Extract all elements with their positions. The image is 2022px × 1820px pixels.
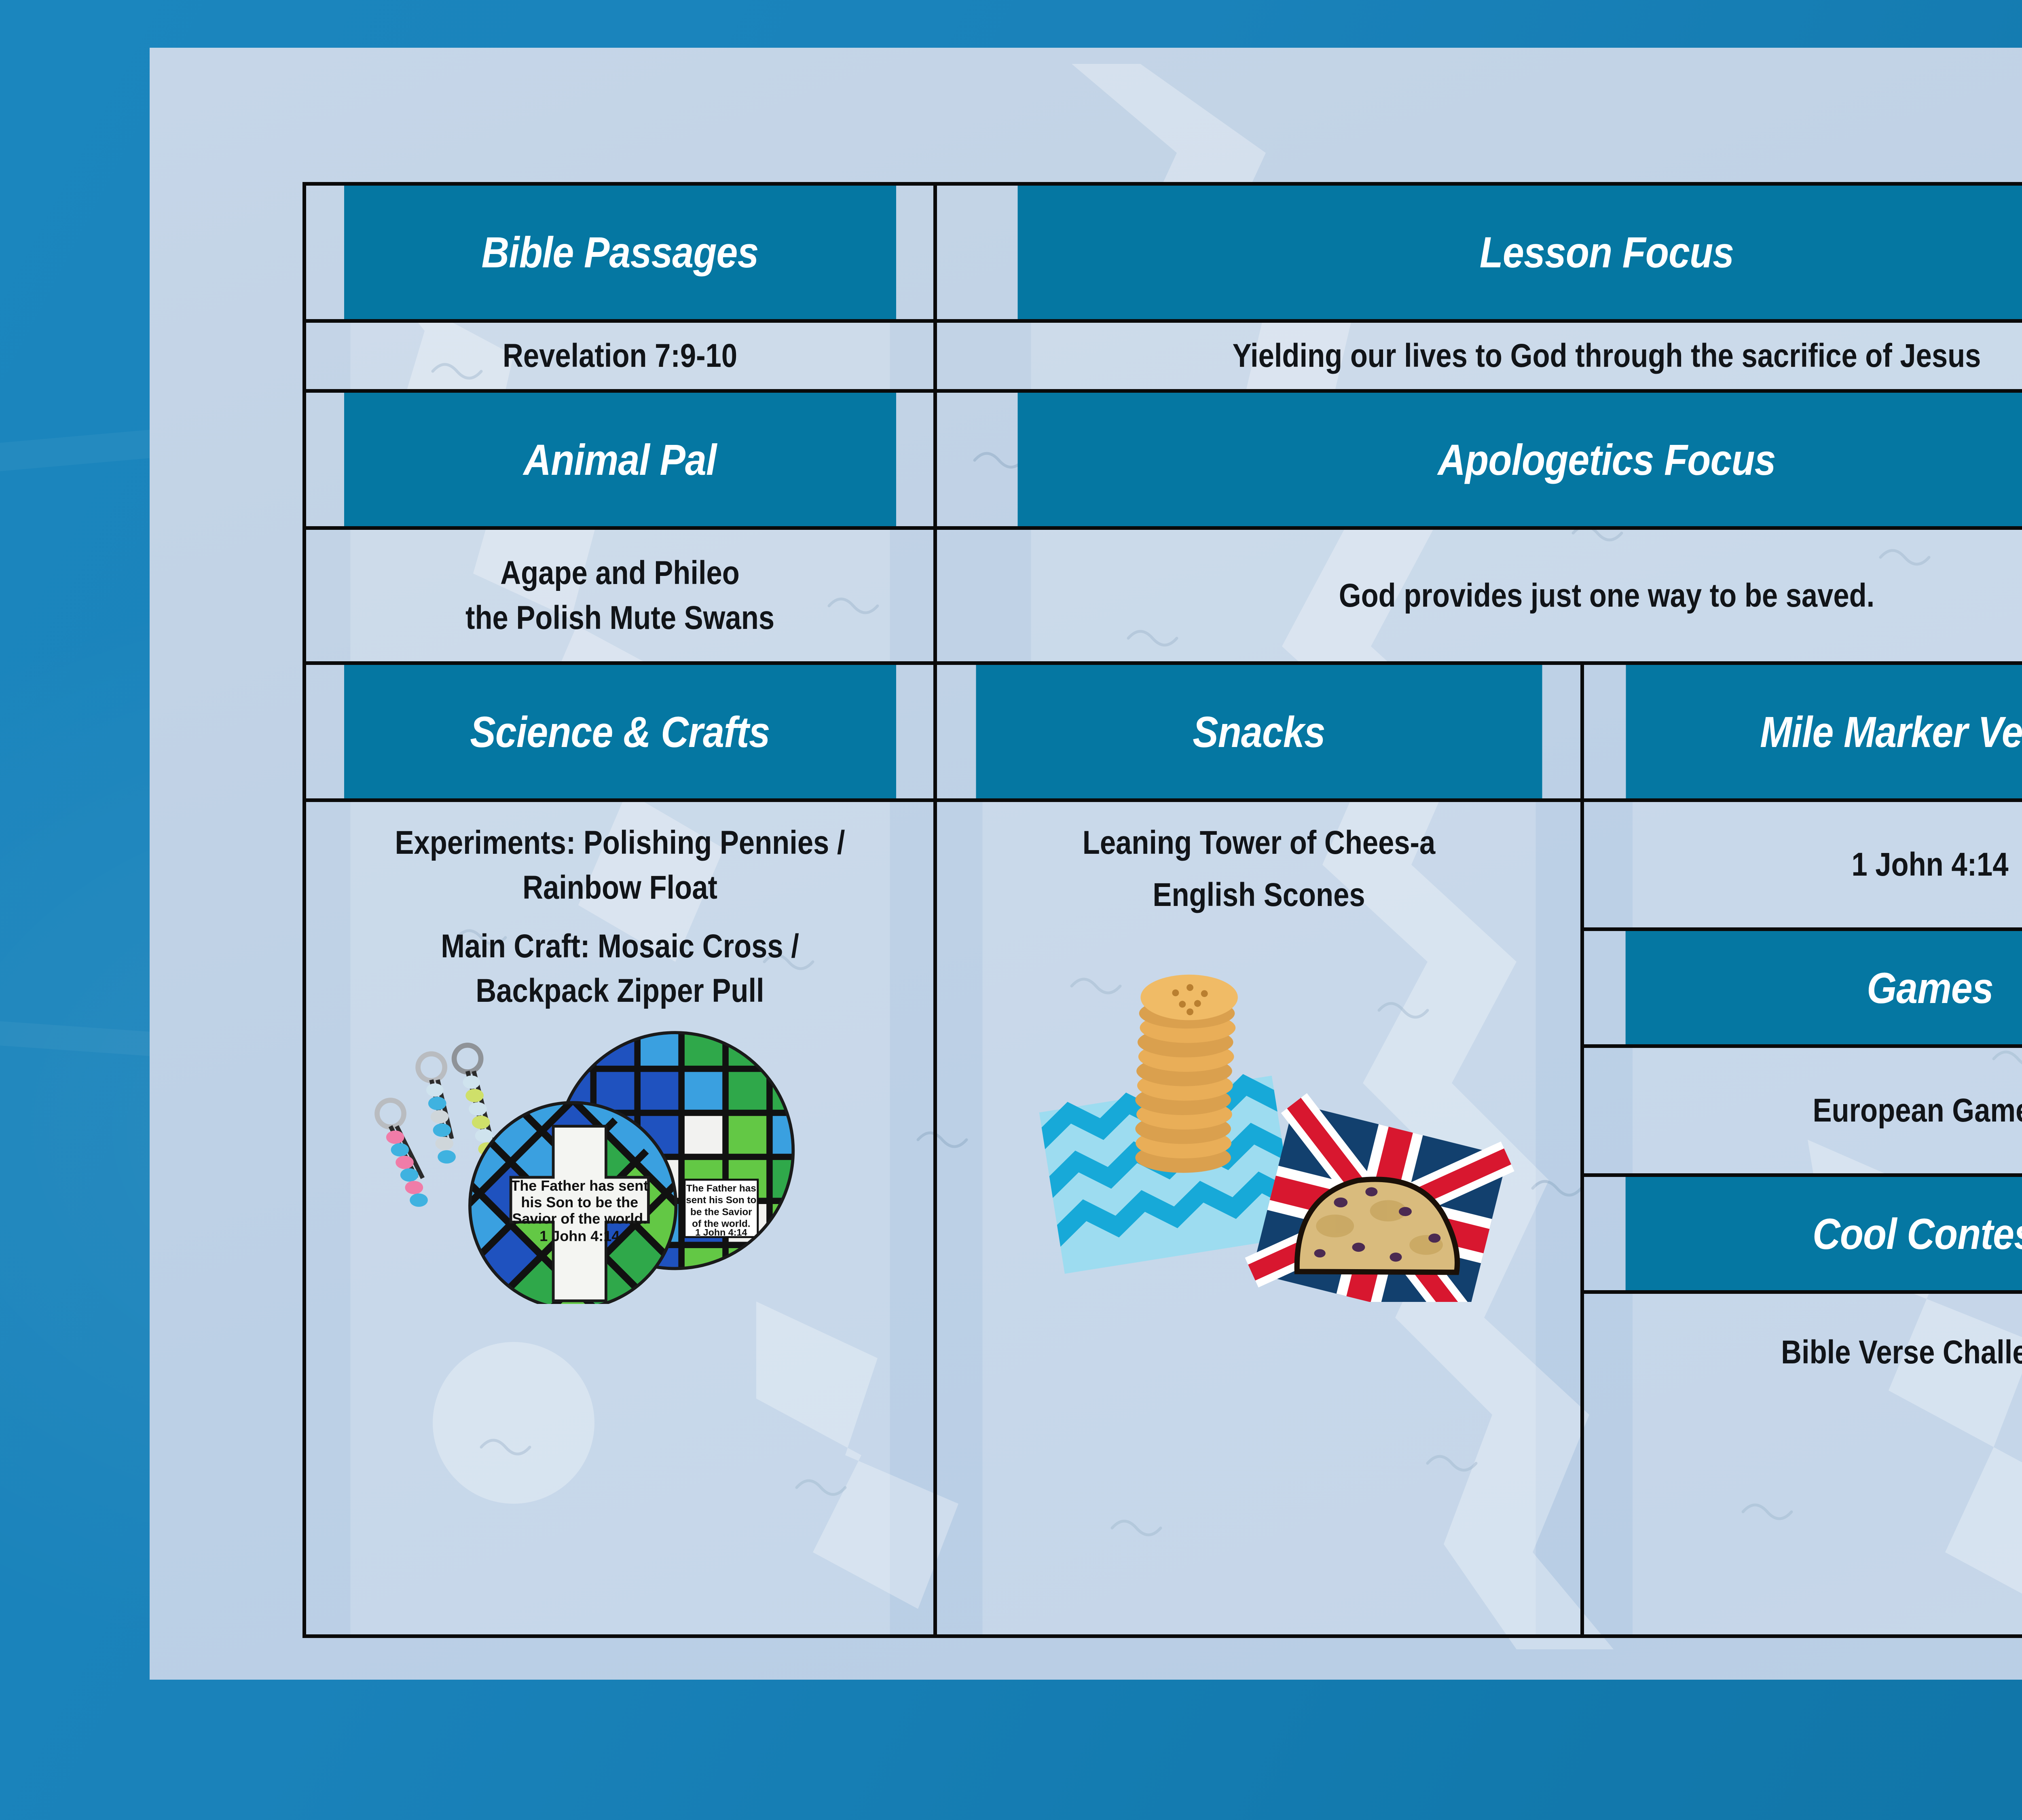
cell-lesson-focus-value: Yielding our lives to God through the sa… [1029,321,2022,391]
schedule-table: Bible Passages Lesson Focus Revelation 7… [302,182,2022,1638]
science-line-4: Backpack Zipper Pull [350,969,890,1014]
header-science-crafts: Science & Crafts [342,663,897,800]
header-mile-marker-verses: Mile Marker Verses [1624,663,2022,800]
table-row: Games [1584,929,2022,1046]
cell-games-value: European Games [1633,1046,2022,1175]
svg-text:Savior of the world.: Savior of the world. [512,1211,647,1227]
cell-snacks-content: Leaning Tower of Chees-a English Scones [981,800,1537,1636]
table-row: 1 John 4:14 [1584,802,2022,929]
cracker-stack [1135,975,1237,1173]
science-line-2: Rainbow Float [350,866,890,910]
cell-right-stack: 1 John 4:14 Games European Games Cool Co… [1582,800,2022,1636]
snacks-photo [937,930,1580,1302]
animal-pal-line-1: Agape and Phileo [350,551,890,596]
svg-text:1 John 4:14: 1 John 4:14 [539,1228,619,1244]
science-spacer [350,910,890,924]
svg-text:The Father has: The Father has [686,1183,756,1194]
cell-apologetics-focus-value: God provides just one way to be saved. [1029,528,2022,663]
svg-text:sent his Son to: sent his Son to [685,1195,756,1206]
snacks-spacer [982,866,1535,873]
header-lesson-focus: Lesson Focus [1016,184,2022,321]
table-row: Agape and Phileo the Polish Mute Swans G… [305,528,2022,663]
science-line-1: Experiments: Polishing Pennies / [350,821,890,866]
table-row: Bible Passages Lesson Focus [305,184,2022,321]
svg-text:his Son to be the: his Son to be the [520,1194,638,1211]
svg-text:1 John 4:14: 1 John 4:14 [695,1227,747,1238]
header-apologetics-focus: Apologetics Focus [1016,391,2022,528]
header-snacks: Snacks [974,663,1544,800]
cell-science-crafts-content: Experiments: Polishing Pennies / Rainbow… [349,800,891,1636]
cell-cool-contest-value: Bible Verse Challenge [1633,1292,2022,1634]
table-row: Cool Contest [1584,1175,2022,1292]
header-animal-pal: Animal Pal [342,391,897,528]
cell-bible-passage-value: Revelation 7:9-10 [349,321,891,391]
svg-text:be the Savior: be the Savior [690,1206,752,1217]
svg-text:The Father has sent: The Father has sent [510,1177,648,1194]
header-cool-contest: Cool Contest [1626,1175,2022,1292]
header-games: Games [1626,929,2022,1046]
animal-pal-line-2: the Polish Mute Swans [350,596,890,641]
slide-canvas: Bible Passages Lesson Focus Revelation 7… [0,0,2022,1820]
table-row: European Games [1584,1046,2022,1175]
table-row: Animal Pal Apologetics Focus [305,391,2022,528]
table-row: Bible Verse Challenge [1584,1292,2022,1634]
table-row: Experiments: Polishing Pennies / Rainbow… [305,800,2022,1636]
snacks-line-2: English Scones [982,873,1535,918]
cell-animal-pal-value: Agape and Phileo the Polish Mute Swans [349,528,891,663]
content-panel: Bible Passages Lesson Focus Revelation 7… [150,48,2022,1680]
table-row: Revelation 7:9-10 Yielding our lives to … [305,321,2022,391]
header-bible-passages: Bible Passages [342,184,897,321]
mosaic-cross-craft-photo: The Father has sent his Son to be the Sa… [306,1021,933,1304]
snacks-line-1: Leaning Tower of Chees-a [982,821,1535,866]
table-row: Science & Crafts Snacks Mile Marker Vers… [305,663,2022,800]
science-line-3: Main Craft: Mosaic Cross / [350,924,890,969]
cell-mile-marker-verse: 1 John 4:14 [1633,802,2022,929]
